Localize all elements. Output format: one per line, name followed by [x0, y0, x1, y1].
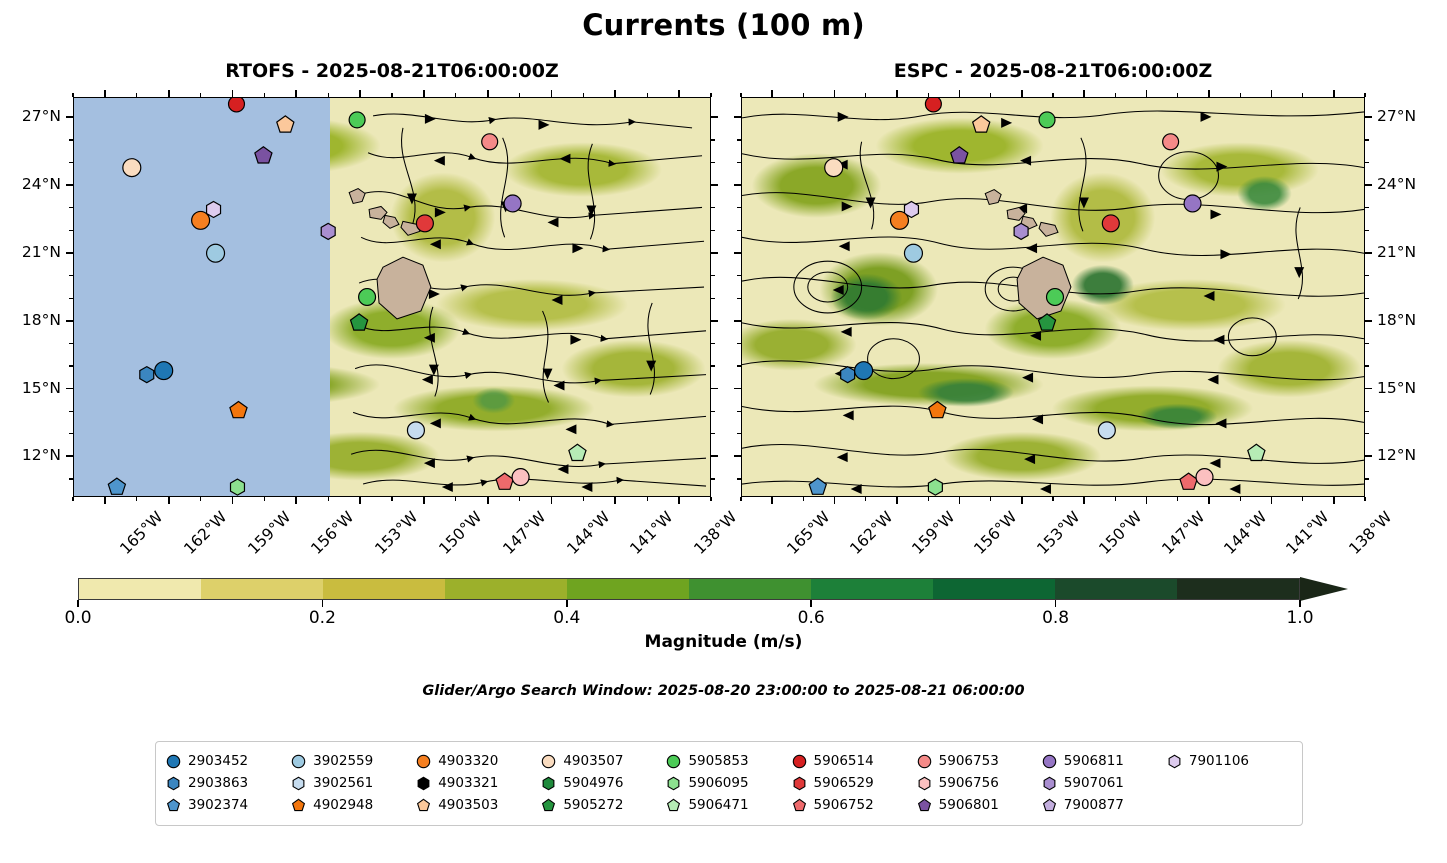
- colorbar-band-8: [1055, 579, 1177, 599]
- xtick-minor-top-rtofs: [423, 93, 424, 97]
- ytick-minor-espc: [737, 365, 741, 366]
- colorbar-tick-2: [566, 600, 568, 607]
- xtick-minor-rtofs: [679, 497, 680, 501]
- legend-item-label: 2903452: [188, 753, 248, 769]
- legend-item-label: 5907061: [1064, 775, 1124, 791]
- ytick-minor-rtofs: [69, 275, 73, 276]
- ytick-minor-r-espc: [1365, 162, 1369, 163]
- xtick-minor-rtofs: [264, 497, 265, 501]
- ytick-minor-rtofs: [69, 343, 73, 344]
- xtick-minor-top-espc: [928, 93, 929, 97]
- float-markers-rtofs[interactable]: [74, 98, 710, 496]
- ytick-minor-r-rtofs: [711, 252, 715, 253]
- legend-item-label: 4903320: [438, 753, 498, 769]
- pentagon-marker-icon: [792, 798, 807, 813]
- float-legend: 2903452390255949033204903507590585359065…: [155, 741, 1303, 826]
- ytick-minor-r-rtofs: [711, 456, 715, 457]
- xtick-minor-top-espc: [1021, 93, 1022, 97]
- circle-marker-icon: [291, 754, 306, 769]
- circle-marker-icon: [917, 754, 932, 769]
- float-markers-espc[interactable]: [742, 98, 1364, 496]
- xtick-label-espc-3: 156°W: [971, 508, 1021, 558]
- xtick-minor-rtofs: [615, 497, 616, 501]
- ytick-minor-r-espc: [1365, 275, 1369, 276]
- xtick-minor-top-espc: [1115, 93, 1116, 97]
- ytick-minor-rtofs: [69, 433, 73, 434]
- ytick-minor-espc: [737, 456, 741, 457]
- xtick-minor-espc: [1084, 497, 1085, 501]
- xtick-minor-espc: [1208, 497, 1209, 501]
- panel-title-rtofs: RTOFS - 2025-08-21T06:00:00Z: [73, 60, 711, 82]
- legend-item-5905853[interactable]: 5905853: [666, 753, 791, 769]
- xtick-minor-espc: [928, 497, 929, 501]
- ytick-minor-r-espc: [1365, 252, 1369, 253]
- colorbar-band-3: [445, 579, 567, 599]
- legend-item-label: 5906752: [814, 797, 874, 813]
- xtick-minor-top-rtofs: [136, 93, 137, 97]
- xtick-label-rtofs-8: 141°W: [627, 508, 677, 558]
- ytick-minor-r-espc: [1365, 388, 1369, 389]
- ytick-minor-r-rtofs: [711, 320, 715, 321]
- circle-marker-icon: [166, 754, 181, 769]
- legend-item-5906529[interactable]: 5906529: [792, 775, 917, 791]
- ytick-minor-rtofs: [69, 252, 73, 253]
- ytick-label-left-5: 12°N: [0, 446, 61, 464]
- ytick-label-right-5: 12°N: [1377, 446, 1416, 464]
- ytick-minor-r-rtofs: [711, 478, 715, 479]
- xtick-minor-top-rtofs: [296, 93, 297, 97]
- colorbar-band-7: [933, 579, 1055, 599]
- ytick-minor-r-rtofs: [711, 433, 715, 434]
- hexagon-marker-icon: [416, 776, 431, 791]
- ytick-minor-espc: [737, 478, 741, 479]
- xtick-minor-espc: [772, 497, 773, 501]
- ytick-minor-r-rtofs: [711, 343, 715, 344]
- circle-marker-icon: [416, 754, 431, 769]
- ytick-label-right-4: 15°N: [1377, 379, 1416, 397]
- xtick-minor-rtofs: [296, 497, 297, 501]
- ytick-minor-espc: [737, 388, 741, 389]
- colorbar-band-4: [567, 579, 689, 599]
- colorbar[interactable]: [78, 578, 1368, 600]
- xtick-label-espc-9: 138°W: [1345, 508, 1395, 558]
- xtick-minor-espc: [990, 497, 991, 501]
- xtick-minor-top-rtofs: [168, 93, 169, 97]
- colorbar-band-6: [811, 579, 933, 599]
- legend-item-label: 5904976: [563, 775, 623, 791]
- xtick-minor-rtofs: [391, 497, 392, 501]
- search-window-text: Glider/Argo Search Window: 2025-08-20 23…: [0, 683, 1447, 699]
- ytick-minor-r-espc: [1365, 433, 1369, 434]
- legend-item-2903863[interactable]: 2903863: [166, 775, 291, 791]
- legend-item-5905272[interactable]: 5905272: [541, 797, 666, 813]
- hexagon-marker-icon: [1042, 776, 1057, 791]
- colorbar-tick-label-2: 0.4: [553, 608, 580, 628]
- legend-item-3902559[interactable]: 3902559: [291, 753, 416, 769]
- ytick-minor-r-espc: [1365, 139, 1369, 140]
- colorbar-tick-label-4: 0.8: [1042, 608, 1069, 628]
- ytick-minor-r-rtofs: [711, 388, 715, 389]
- legend-item-label: 5906811: [1064, 753, 1124, 769]
- legend-item-7901106[interactable]: 7901106: [1167, 753, 1292, 769]
- hexagon-marker-icon: [666, 776, 681, 791]
- legend-item-label: 5906514: [814, 753, 874, 769]
- xtick-minor-top-rtofs: [710, 93, 711, 97]
- legend-item-label: 4903503: [438, 797, 498, 813]
- ytick-minor-rtofs: [69, 478, 73, 479]
- ytick-minor-rtofs: [69, 456, 73, 457]
- xtick-minor-top-rtofs: [455, 93, 456, 97]
- hexagon-marker-icon: [541, 776, 556, 791]
- xtick-minor-rtofs: [360, 497, 361, 501]
- xtick-minor-rtofs: [487, 497, 488, 501]
- legend-item-4903321[interactable]: 4903321: [416, 775, 541, 791]
- ytick-minor-r-espc: [1365, 411, 1369, 412]
- xtick-minor-rtofs: [455, 497, 456, 501]
- xtick-label-espc-1: 162°W: [846, 508, 896, 558]
- xtick-label-rtofs-6: 147°W: [499, 508, 549, 558]
- xtick-minor-top-rtofs: [264, 93, 265, 97]
- figure-title: Currents (100 m): [0, 8, 1447, 42]
- legend-item-label: 3902561: [313, 775, 373, 791]
- colorbar-title: Magnitude (m/s): [0, 632, 1447, 652]
- colorbar-band-0: [79, 579, 201, 599]
- xtick-label-espc-4: 153°W: [1033, 508, 1083, 558]
- ytick-minor-espc: [737, 343, 741, 344]
- xtick-label-espc-7: 144°W: [1220, 508, 1270, 558]
- ytick-label-left-3: 18°N: [0, 311, 61, 329]
- xtick-minor-top-espc: [1271, 93, 1272, 97]
- xtick-minor-top-rtofs: [615, 93, 616, 97]
- xtick-minor-top-espc: [1302, 93, 1303, 97]
- ytick-minor-espc: [737, 252, 741, 253]
- ytick-minor-rtofs: [69, 365, 73, 366]
- ytick-minor-r-espc: [1365, 230, 1369, 231]
- legend-item-4903507[interactable]: 4903507: [541, 753, 666, 769]
- xtick-minor-espc: [1052, 497, 1053, 501]
- ytick-label-left-2: 21°N: [0, 243, 61, 261]
- ytick-minor-r-rtofs: [711, 411, 715, 412]
- ytick-minor-r-espc: [1365, 365, 1369, 366]
- ytick-minor-r-rtofs: [711, 275, 715, 276]
- legend-item-5907061[interactable]: 5907061: [1042, 775, 1167, 791]
- legend-item-label: 4902948: [313, 797, 373, 813]
- xtick-label-rtofs-1: 162°W: [180, 508, 230, 558]
- colorbar-tick-label-5: 1.0: [1286, 608, 1313, 628]
- ytick-minor-espc: [737, 275, 741, 276]
- xtick-minor-espc: [1271, 497, 1272, 501]
- ytick-minor-r-rtofs: [711, 298, 715, 299]
- legend-item-3902374[interactable]: 3902374: [166, 797, 291, 813]
- xtick-minor-rtofs: [168, 497, 169, 501]
- xtick-label-espc-2: 159°W: [908, 508, 958, 558]
- legend-item-2903452[interactable]: 2903452: [166, 753, 291, 769]
- legend-item-4903320[interactable]: 4903320: [416, 753, 541, 769]
- xtick-minor-top-espc: [1208, 93, 1209, 97]
- legend-item-label: 7900877: [1064, 797, 1124, 813]
- xtick-minor-espc: [896, 497, 897, 501]
- legend-item-5906095[interactable]: 5906095: [666, 775, 791, 791]
- xtick-minor-top-espc: [865, 93, 866, 97]
- legend-item-5906753[interactable]: 5906753: [917, 753, 1042, 769]
- colorbar-band-5: [689, 579, 811, 599]
- ytick-minor-espc: [737, 162, 741, 163]
- xtick-minor-rtofs: [136, 497, 137, 501]
- xtick-minor-top-rtofs: [551, 93, 552, 97]
- ytick-minor-r-rtofs: [711, 162, 715, 163]
- xtick-minor-espc: [1240, 497, 1241, 501]
- colorbar-tick-5: [1299, 600, 1301, 607]
- ytick-label-left-0: 27°N: [0, 107, 61, 125]
- legend-item-5906471[interactable]: 5906471: [666, 797, 791, 813]
- legend-item-label: 2903863: [188, 775, 248, 791]
- hexagon-marker-icon: [166, 776, 181, 791]
- legend-item-label: 3902559: [313, 753, 373, 769]
- xtick-minor-top-rtofs: [583, 93, 584, 97]
- ytick-minor-r-espc: [1365, 185, 1369, 186]
- ytick-minor-r-espc: [1365, 298, 1369, 299]
- colorbar-tick-4: [1055, 600, 1057, 607]
- pentagon-marker-icon: [166, 798, 181, 813]
- xtick-minor-top-espc: [1364, 93, 1365, 97]
- pentagon-marker-icon: [291, 798, 306, 813]
- pentagon-marker-icon: [917, 798, 932, 813]
- ytick-minor-espc: [737, 230, 741, 231]
- xtick-minor-rtofs: [551, 497, 552, 501]
- ytick-label-right-2: 21°N: [1377, 243, 1416, 261]
- map-panel-espc[interactable]: [741, 97, 1365, 497]
- legend-item-4903503[interactable]: 4903503: [416, 797, 541, 813]
- ytick-minor-r-rtofs: [711, 230, 715, 231]
- xtick-minor-espc: [1364, 497, 1365, 501]
- ytick-minor-espc: [737, 117, 741, 118]
- xtick-minor-rtofs: [104, 497, 105, 501]
- circle-marker-icon: [666, 754, 681, 769]
- legend-item-4902948[interactable]: 4902948: [291, 797, 416, 813]
- xtick-label-rtofs-2: 159°W: [244, 508, 294, 558]
- xtick-minor-rtofs: [519, 497, 520, 501]
- legend-item-label: 7901106: [1189, 753, 1249, 769]
- ytick-minor-espc: [737, 185, 741, 186]
- ytick-minor-rtofs: [69, 298, 73, 299]
- xtick-minor-top-rtofs: [519, 93, 520, 97]
- pentagon-marker-icon: [666, 798, 681, 813]
- xtick-minor-top-espc: [896, 93, 897, 97]
- ytick-minor-rtofs: [69, 139, 73, 140]
- ytick-minor-r-espc: [1365, 478, 1369, 479]
- legend-item-5906752[interactable]: 5906752: [792, 797, 917, 813]
- map-panel-rtofs[interactable]: [73, 97, 711, 497]
- xtick-label-rtofs-3: 156°W: [308, 508, 358, 558]
- xtick-minor-espc: [1333, 497, 1334, 501]
- xtick-minor-espc: [1177, 497, 1178, 501]
- ytick-minor-rtofs: [69, 185, 73, 186]
- xtick-label-espc-6: 147°W: [1158, 508, 1208, 558]
- xtick-minor-espc: [740, 497, 741, 501]
- xtick-minor-top-rtofs: [391, 93, 392, 97]
- legend-item-label: 5906095: [688, 775, 748, 791]
- xtick-minor-espc: [1021, 497, 1022, 501]
- ytick-minor-r-espc: [1365, 117, 1369, 118]
- ytick-minor-rtofs: [69, 162, 73, 163]
- xtick-label-rtofs-7: 144°W: [563, 508, 613, 558]
- ytick-minor-espc: [737, 411, 741, 412]
- legend-item-label: 5906753: [939, 753, 999, 769]
- xtick-minor-top-espc: [959, 93, 960, 97]
- xtick-minor-rtofs: [232, 497, 233, 501]
- ytick-label-left-1: 24°N: [0, 175, 61, 193]
- ytick-minor-rtofs: [69, 320, 73, 321]
- xtick-minor-top-rtofs: [679, 93, 680, 97]
- hexagon-marker-icon: [291, 776, 306, 791]
- ytick-minor-r-rtofs: [711, 139, 715, 140]
- ytick-minor-r-espc: [1365, 456, 1369, 457]
- xtick-label-rtofs-9: 138°W: [691, 508, 741, 558]
- legend-item-5904976[interactable]: 5904976: [541, 775, 666, 791]
- xtick-minor-espc: [1146, 497, 1147, 501]
- legend-item-5906801[interactable]: 5906801: [917, 797, 1042, 813]
- xtick-minor-top-espc: [1177, 93, 1178, 97]
- circle-marker-icon: [541, 754, 556, 769]
- circle-marker-icon: [1042, 754, 1057, 769]
- colorbar-tick-label-3: 0.6: [798, 608, 825, 628]
- colorbar-extend-arrow: [1300, 577, 1348, 601]
- pentagon-marker-icon: [541, 798, 556, 813]
- colorbar-tick-3: [810, 600, 812, 607]
- colorbar-band-2: [323, 579, 445, 599]
- legend-item-7900877[interactable]: 7900877: [1042, 797, 1167, 813]
- xtick-minor-top-espc: [1084, 93, 1085, 97]
- ytick-label-left-4: 15°N: [0, 379, 61, 397]
- ytick-minor-r-rtofs: [711, 117, 715, 118]
- hexagon-marker-icon: [792, 776, 807, 791]
- xtick-label-espc-0: 165°W: [784, 508, 834, 558]
- legend-item-label: 5905272: [563, 797, 623, 813]
- ytick-minor-r-rtofs: [711, 365, 715, 366]
- xtick-minor-top-rtofs: [232, 93, 233, 97]
- hexagon-marker-icon: [917, 776, 932, 791]
- xtick-minor-top-espc: [1146, 93, 1147, 97]
- xtick-minor-top-espc: [990, 93, 991, 97]
- xtick-minor-rtofs: [710, 497, 711, 501]
- legend-item-label: 3902374: [188, 797, 248, 813]
- xtick-minor-top-espc: [772, 93, 773, 97]
- ytick-label-right-3: 18°N: [1377, 311, 1416, 329]
- ytick-minor-r-espc: [1365, 343, 1369, 344]
- xtick-minor-top-rtofs: [647, 93, 648, 97]
- xtick-minor-rtofs: [200, 497, 201, 501]
- legend-item-label: 5906471: [688, 797, 748, 813]
- colorbar-band-9: [1177, 579, 1299, 599]
- xtick-minor-espc: [1115, 497, 1116, 501]
- legend-item-label: 5905853: [688, 753, 748, 769]
- ytick-label-right-0: 27°N: [1377, 107, 1416, 125]
- ytick-minor-espc: [737, 139, 741, 140]
- xtick-minor-espc: [1302, 497, 1303, 501]
- xtick-minor-top-rtofs: [200, 93, 201, 97]
- legend-item-label: 5906756: [939, 775, 999, 791]
- ytick-label-right-1: 24°N: [1377, 175, 1416, 193]
- colorbar-tick-1: [322, 600, 324, 607]
- ytick-minor-rtofs: [69, 411, 73, 412]
- xtick-minor-espc: [834, 497, 835, 501]
- xtick-minor-top-espc: [834, 93, 835, 97]
- xtick-minor-top-rtofs: [104, 93, 105, 97]
- hexagon-marker-icon: [1167, 754, 1182, 769]
- legend-item-label: 4903507: [563, 753, 623, 769]
- ytick-minor-espc: [737, 433, 741, 434]
- xtick-minor-rtofs: [647, 497, 648, 501]
- ytick-minor-espc: [737, 298, 741, 299]
- xtick-label-espc-5: 150°W: [1096, 508, 1146, 558]
- xtick-minor-espc: [803, 497, 804, 501]
- xtick-minor-espc: [865, 497, 866, 501]
- pentagon-marker-icon: [1042, 798, 1057, 813]
- ytick-minor-espc: [737, 320, 741, 321]
- xtick-label-rtofs-5: 150°W: [435, 508, 485, 558]
- xtick-minor-top-rtofs: [328, 93, 329, 97]
- legend-item-label: 4903321: [438, 775, 498, 791]
- ytick-minor-r-rtofs: [711, 185, 715, 186]
- xtick-minor-rtofs: [72, 497, 73, 501]
- xtick-minor-top-espc: [1240, 93, 1241, 97]
- panel-title-espc: ESPC - 2025-08-21T06:00:00Z: [741, 60, 1365, 82]
- xtick-label-espc-8: 141°W: [1283, 508, 1333, 558]
- xtick-label-rtofs-4: 153°W: [372, 508, 422, 558]
- legend-item-3902561[interactable]: 3902561: [291, 775, 416, 791]
- xtick-minor-top-rtofs: [360, 93, 361, 97]
- ytick-minor-r-espc: [1365, 320, 1369, 321]
- ytick-minor-espc: [737, 207, 741, 208]
- xtick-minor-top-espc: [740, 93, 741, 97]
- pentagon-marker-icon: [416, 798, 431, 813]
- xtick-minor-rtofs: [583, 497, 584, 501]
- ytick-minor-rtofs: [69, 207, 73, 208]
- xtick-label-rtofs-0: 165°W: [116, 508, 166, 558]
- colorbar-tick-label-1: 0.2: [309, 608, 336, 628]
- xtick-minor-top-rtofs: [487, 93, 488, 97]
- legend-item-label: 5906801: [939, 797, 999, 813]
- colorbar-bands: [78, 578, 1300, 600]
- colorbar-band-1: [201, 579, 323, 599]
- xtick-minor-top-espc: [803, 93, 804, 97]
- float-legend-grid: 2903452390255949033204903507590585359065…: [166, 750, 1292, 816]
- xtick-minor-rtofs: [328, 497, 329, 501]
- ytick-minor-rtofs: [69, 230, 73, 231]
- ytick-minor-r-rtofs: [711, 207, 715, 208]
- legend-item-label: 5906529: [814, 775, 874, 791]
- xtick-minor-top-espc: [1052, 93, 1053, 97]
- xtick-minor-top-rtofs: [72, 93, 73, 97]
- colorbar-tick-label-0: 0.0: [64, 608, 91, 628]
- colorbar-tick-0: [77, 600, 79, 607]
- legend-item-5906756[interactable]: 5906756: [917, 775, 1042, 791]
- xtick-minor-rtofs: [423, 497, 424, 501]
- ytick-minor-rtofs: [69, 388, 73, 389]
- legend-item-5906811[interactable]: 5906811: [1042, 753, 1167, 769]
- circle-marker-icon: [792, 754, 807, 769]
- ytick-minor-r-espc: [1365, 207, 1369, 208]
- legend-item-5906514[interactable]: 5906514: [792, 753, 917, 769]
- ytick-minor-rtofs: [69, 117, 73, 118]
- xtick-minor-espc: [959, 497, 960, 501]
- xtick-minor-top-espc: [1333, 93, 1334, 97]
